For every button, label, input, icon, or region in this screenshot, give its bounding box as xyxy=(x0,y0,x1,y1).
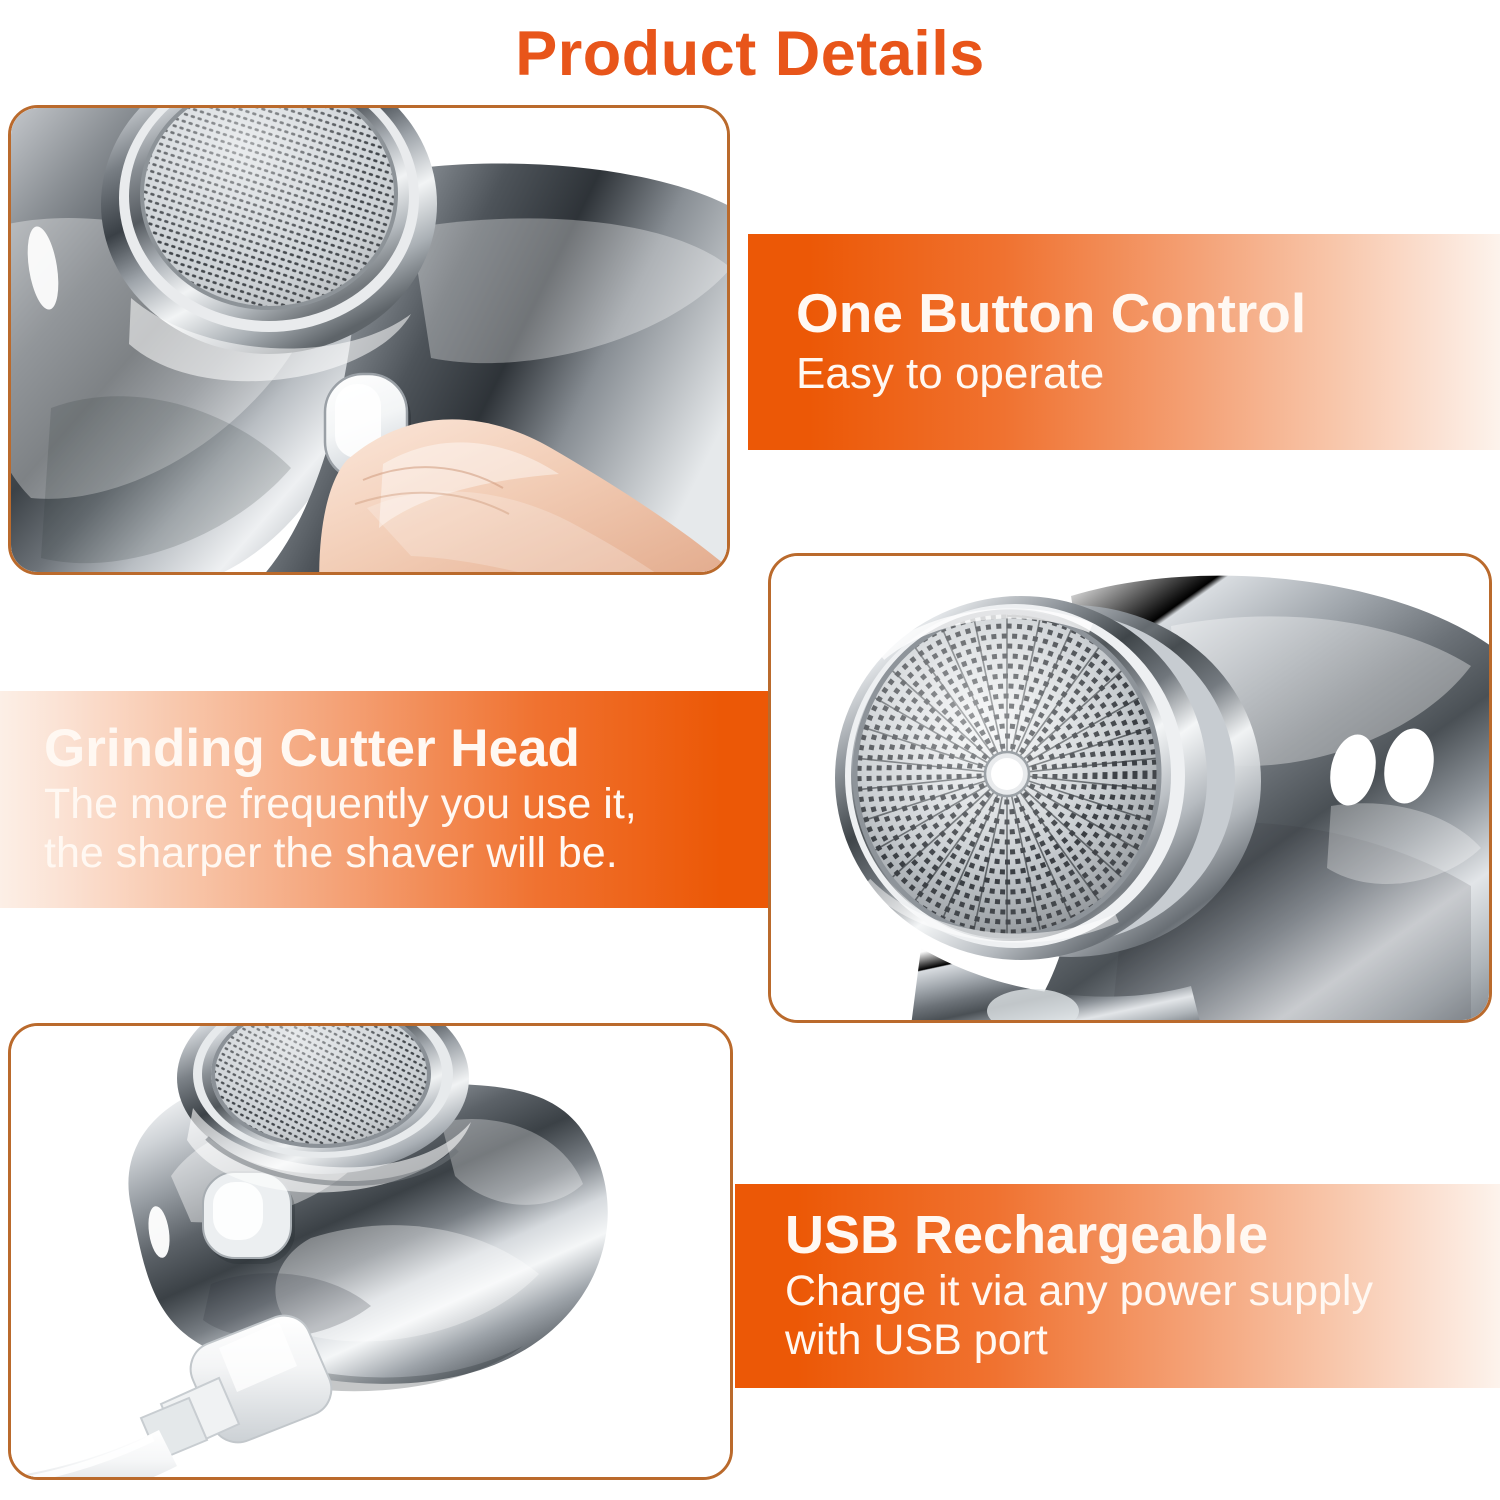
feature-subtext-line-2: with USB port xyxy=(785,1316,1500,1365)
feature-subtext: Easy to operate xyxy=(796,349,1500,399)
feature-heading: USB Rechargeable xyxy=(785,1207,1500,1264)
page-title: Product Details xyxy=(0,18,1500,90)
product-details-infographic: Product Details xyxy=(0,0,1500,1500)
usb-rechargeable-photo xyxy=(11,1026,730,1477)
panel-cutter-head xyxy=(768,553,1492,1023)
feature-band-usb-rechargeable: USB Rechargeable Charge it via any power… xyxy=(735,1184,1500,1388)
panel-usb-charging xyxy=(8,1023,733,1480)
grinding-cutter-head-photo xyxy=(771,556,1489,1020)
feature-heading: Grinding Cutter Head xyxy=(44,721,768,777)
feature-subtext-line-1: Charge it via any power supply xyxy=(785,1267,1500,1316)
one-button-control-photo xyxy=(11,108,727,572)
feature-subtext-line-1: The more frequently you use it, xyxy=(44,780,768,829)
feature-heading: One Button Control xyxy=(796,285,1500,343)
panel-button-press xyxy=(8,105,730,575)
feature-band-grinding-cutter-head: Grinding Cutter Head The more frequently… xyxy=(0,691,768,908)
feature-band-one-button-control: One Button Control Easy to operate xyxy=(748,234,1500,450)
feature-subtext-line-2: the sharper the shaver will be. xyxy=(44,829,768,878)
